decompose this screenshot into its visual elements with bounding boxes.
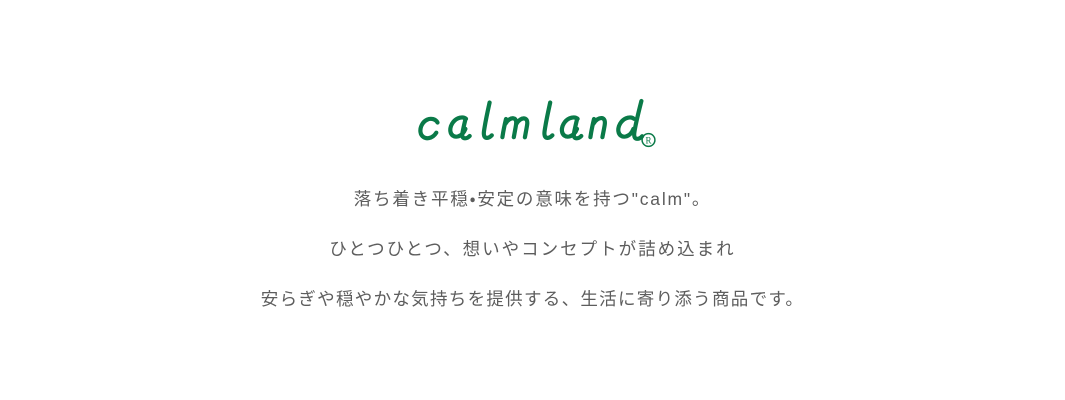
brand-tagline: 落ち着き平穏・安定の意味を持つ"calm"。 ひとつひとつ、想いやコンセプトが詰…: [0, 174, 1065, 324]
tagline-line-3: 安らぎや穏やかな気持ちを提供する、生活に寄り添う商品です。: [261, 274, 804, 324]
tagline-line-1: 落ち着き平穏・安定の意味を持つ"calm"。: [354, 174, 711, 224]
calmland-wordmark-icon: [420, 101, 642, 139]
svg-text:R: R: [645, 136, 651, 146]
tagline-line-2: ひとつひとつ、想いやコンセプトが詰め込まれ: [329, 224, 735, 274]
brand-concept-section: R 落ち着き平穏・安定の意味を持つ"calm"。 ひとつひとつ、想いやコンセプト…: [0, 0, 1065, 400]
calmland-logo: R: [410, 96, 656, 152]
registered-trademark-icon: R: [642, 134, 655, 147]
